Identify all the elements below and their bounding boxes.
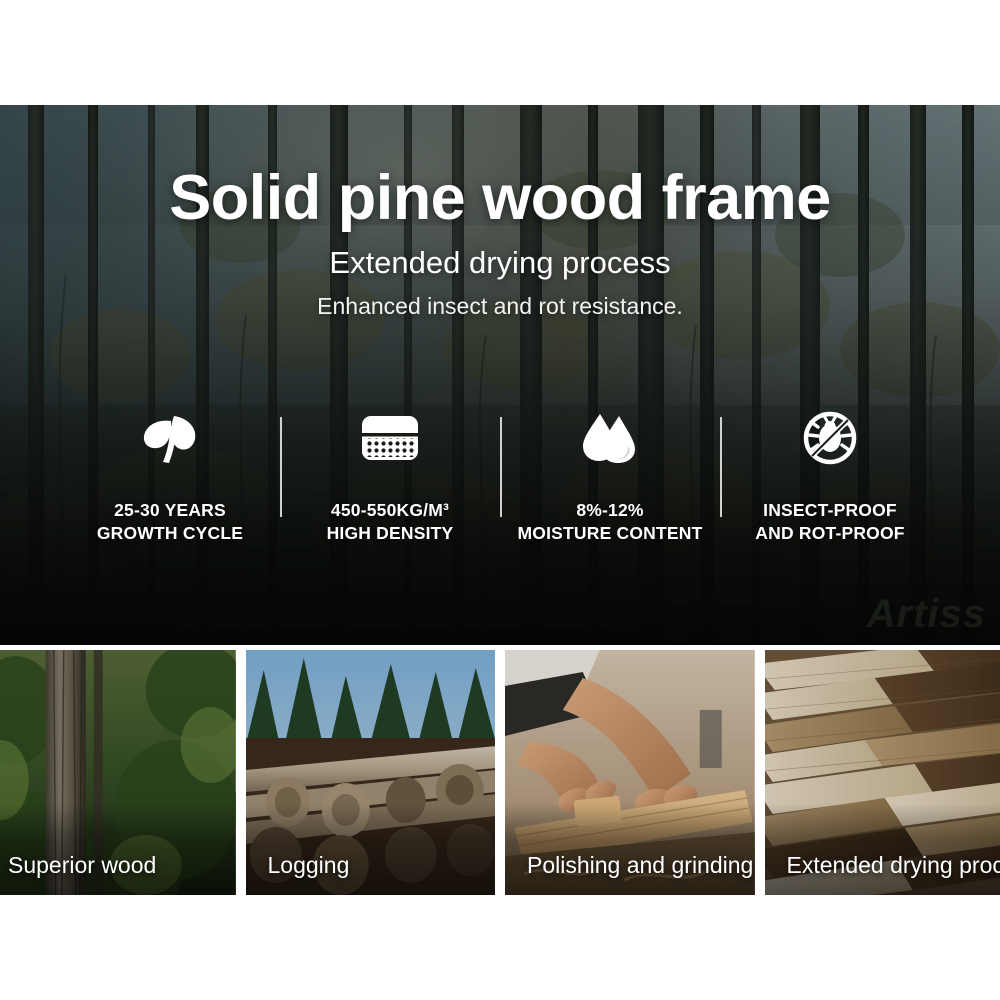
feature-moisture-content: 8%-12% MOISTURE CONTENT [500,403,720,546]
panel-caption: Extended drying proces [787,854,1000,877]
panel-extended-drying[interactable]: Extended drying proces [765,650,1000,895]
page-title: Solid pine wood frame [169,167,831,230]
feature-growth-cycle: 25-30 YEARS GROWTH CYCLE [60,403,280,546]
brand-watermark: Artiss [867,592,986,637]
hero-banner: Solid pine wood frame Extended drying pr… [0,105,1000,645]
feature-label: 8%-12% MOISTURE CONTENT [517,499,702,546]
panel-caption: Logging [268,854,350,877]
feature-insect-proof: INSECT-PROOF AND ROT-PROOF [720,403,940,546]
water-droplets-icon [581,409,639,467]
hero-tagline: Enhanced insect and rot resistance. [317,295,683,318]
leaf-sprout-icon [140,409,200,467]
hero-subtitle: Extended drying process [329,247,670,278]
caption-scrim [0,803,236,895]
caption-scrim [765,803,1000,895]
panel-polishing-grinding[interactable]: Polishing and grinding [505,650,755,895]
no-insect-icon [802,409,858,467]
feature-high-density: 450-550KG/M³ HIGH DENSITY [280,403,500,546]
panel-logging[interactable]: Logging [246,650,496,895]
panel-caption: Polishing and grinding [527,854,753,877]
hero-content: Solid pine wood frame Extended drying pr… [0,105,1000,645]
density-layers-icon [359,409,421,467]
feature-label: 25-30 YEARS GROWTH CYCLE [97,499,243,546]
feature-label: 450-550KG/M³ HIGH DENSITY [327,499,454,546]
feature-list: 25-30 YEARS GROWTH CYCLE [60,403,940,546]
panel-caption: Superior wood [8,854,156,877]
process-photo-strip: Superior wood [0,650,1000,895]
panel-superior-wood[interactable]: Superior wood [0,650,236,895]
feature-label: INSECT-PROOF AND ROT-PROOF [755,499,904,546]
caption-scrim [246,803,496,895]
caption-scrim [505,803,755,895]
